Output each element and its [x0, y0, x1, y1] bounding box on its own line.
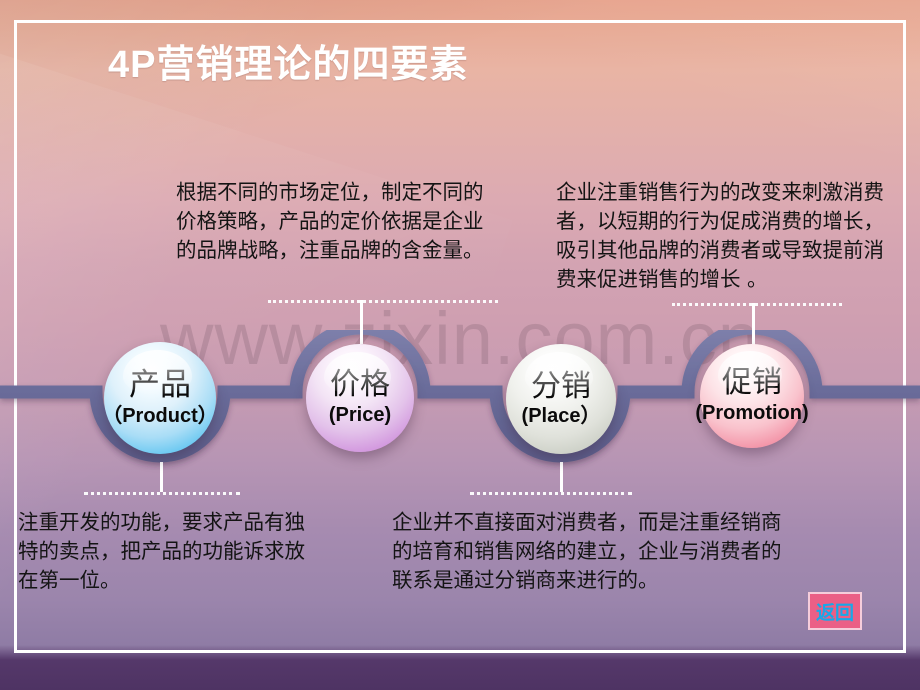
sphere-promotion[interactable]: 促销 (Promotion)	[700, 344, 804, 448]
sphere-price-label-cn: 价格	[330, 370, 390, 400]
leader-dotline-place	[470, 492, 632, 495]
sphere-product[interactable]: 产品 （Product）	[104, 342, 216, 454]
leader-dotline-price	[268, 300, 498, 303]
leader-stem-product	[160, 462, 163, 492]
sphere-price-label-en: (Price)	[329, 405, 391, 426]
slide-canvas: www.zixin.com.cn 4P营销理论的四要素 产品 （Produc	[0, 0, 920, 690]
leader-dotline-promotion	[672, 303, 842, 306]
sphere-promotion-label-en: (Promotion)	[695, 403, 808, 424]
leader-dotline-product	[84, 492, 240, 495]
back-button[interactable]: 返回	[808, 592, 862, 630]
description-product: 注重开发的功能，要求产品有独特的卖点，把产品的功能诉求放在第一位。	[18, 508, 318, 595]
sphere-price[interactable]: 价格 (Price)	[306, 344, 414, 452]
sphere-place-label-en: (Place）	[520, 406, 602, 427]
page-title: 4P营销理论的四要素	[108, 33, 468, 88]
sphere-product-label-en: （Product）	[102, 406, 218, 427]
leader-stem-price	[360, 300, 363, 344]
description-promotion: 企业注重销售行为的改变来刺激消费者，以短期的行为促成消费的增长，吸引其他品牌的消…	[556, 178, 886, 294]
leader-stem-promotion	[752, 303, 755, 347]
leader-stem-place	[560, 462, 563, 492]
sphere-promotion-label-cn: 促销	[722, 368, 782, 398]
sphere-product-label-cn: 产品	[129, 370, 191, 401]
sphere-place-label-cn: 分销	[531, 372, 591, 402]
description-place: 企业并不直接面对消费者，而是注重经销商的培育和销售网络的建立，企业与消费者的联系…	[392, 508, 782, 595]
description-price: 根据不同的市场定位，制定不同的价格策略，产品的定价依据是企业的品牌战略，注重品牌…	[176, 178, 496, 265]
sphere-place[interactable]: 分销 (Place）	[506, 344, 616, 454]
